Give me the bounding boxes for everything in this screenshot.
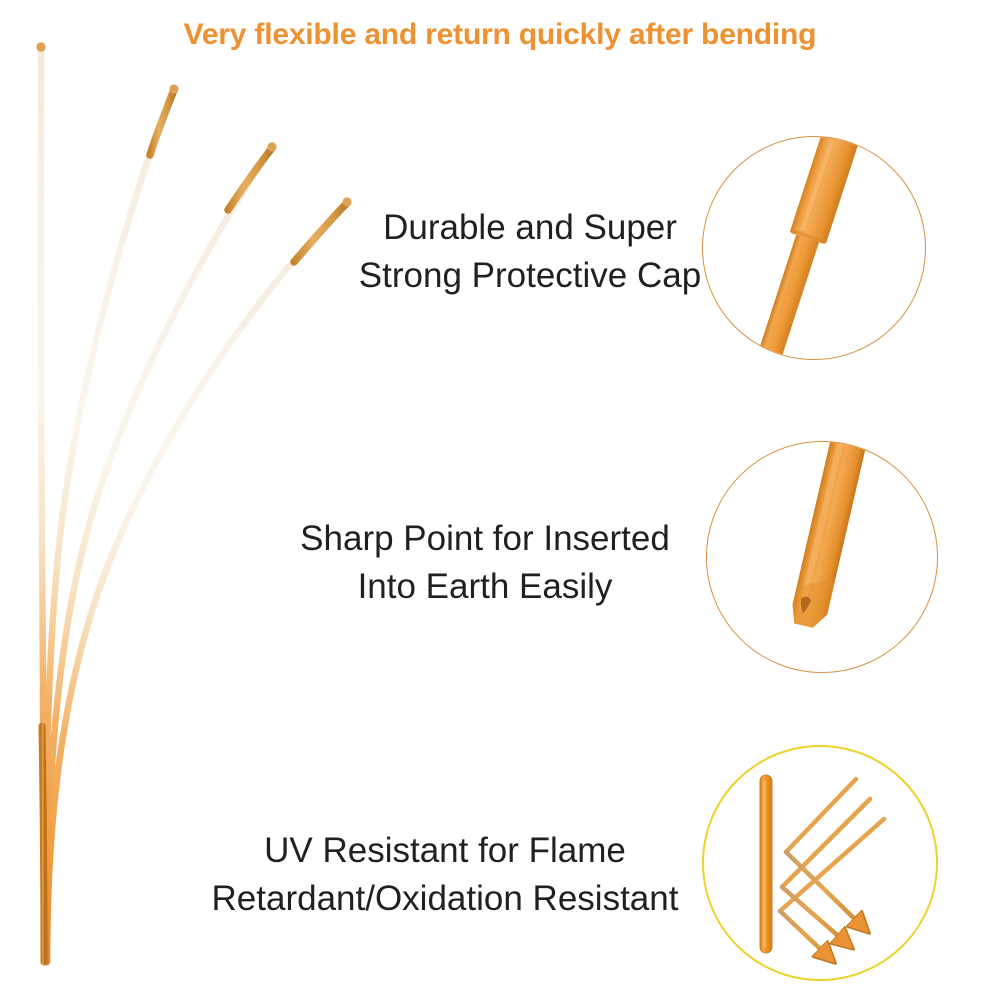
rod-1 [36, 42, 45, 962]
feature-label-protective-cap: Durable and Super Strong Protective Cap [330, 204, 730, 300]
uv-rays-reflecting-diagram-icon [704, 747, 936, 979]
infographic-canvas: Very flexible and return quickly after b… [0, 0, 1000, 1000]
feature-label-line-2: Into Earth Easily [285, 563, 685, 611]
feature-label-uv-resistant: UV Resistant for Flame Retardant/Oxidati… [185, 827, 705, 923]
detail-circle-protective-cap [702, 136, 926, 360]
feature-label-line-2: Retardant/Oxidation Resistant [185, 875, 705, 923]
feature-label-line-2: Strong Protective Cap [330, 252, 730, 300]
feature-label-sharp-point: Sharp Point for Inserted Into Earth Easi… [285, 515, 685, 611]
rod-with-sharp-point-icon [707, 442, 937, 672]
feature-label-line-1: Durable and Super [330, 204, 730, 252]
detail-circle-uv-resistant [702, 745, 938, 981]
rod-2 [45, 84, 179, 962]
feature-label-line-1: UV Resistant for Flame [185, 827, 705, 875]
rod-with-protective-cap-icon [703, 137, 925, 359]
detail-circle-sharp-point [706, 441, 938, 673]
feature-label-line-1: Sharp Point for Inserted [285, 515, 685, 563]
